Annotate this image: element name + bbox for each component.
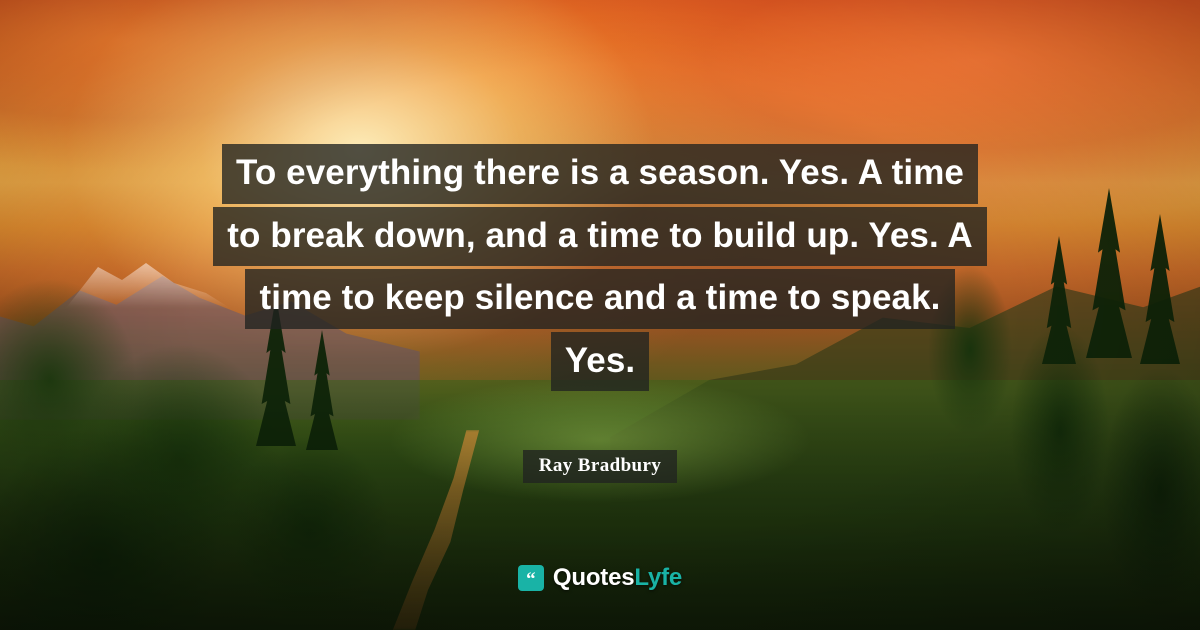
quoteslyfe-logo[interactable]: “ QuotesLyfe	[0, 564, 1200, 592]
quote-image-canvas: To everything there is a season. Yes. A …	[0, 0, 1200, 630]
quote-line: to break down, and a time to build up. Y…	[213, 207, 986, 267]
quote-author-block: Ray Bradbury	[0, 450, 1200, 483]
quote-line: Yes.	[551, 332, 649, 392]
quote-mark-icon: “	[518, 565, 544, 591]
logo-text-primary: Quotes	[553, 564, 634, 591]
quote-line: time to keep silence and a time to speak…	[245, 269, 954, 329]
quote-text-block: To everything there is a season. Yes. A …	[0, 144, 1200, 394]
quote-line: To everything there is a season. Yes. A …	[222, 144, 978, 204]
quote-author: Ray Bradbury	[523, 450, 678, 483]
logo-text-accent: Lyfe	[634, 564, 682, 591]
logo-text: QuotesLyfe	[553, 564, 682, 592]
